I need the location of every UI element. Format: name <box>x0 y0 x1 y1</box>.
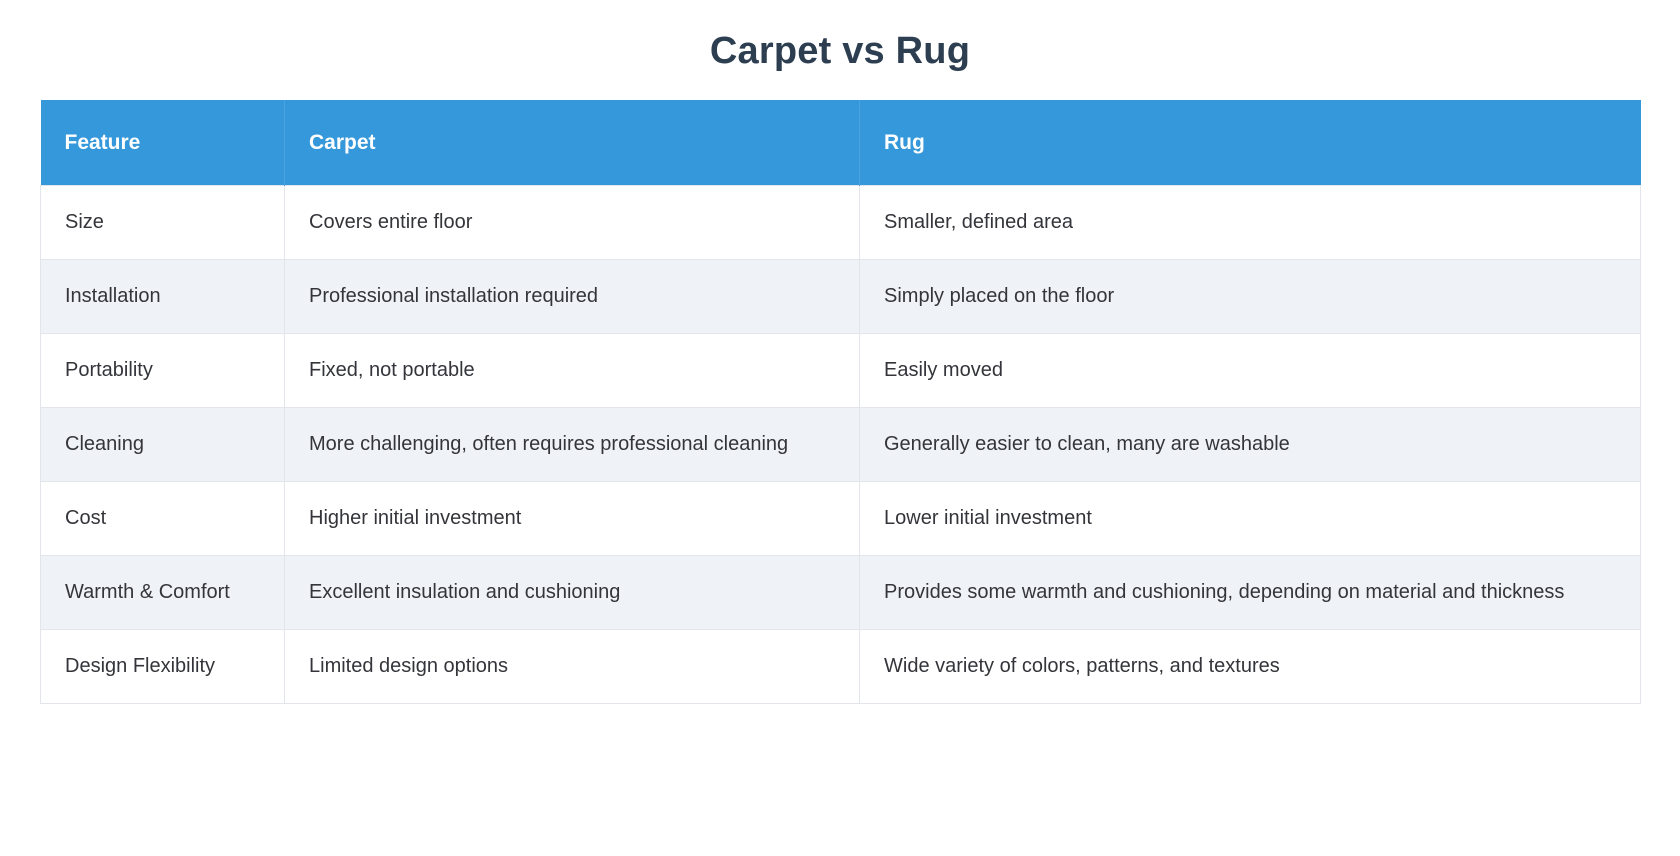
cell-feature: Warmth & Comfort <box>41 555 285 629</box>
table-row: Design Flexibility Limited design option… <box>41 629 1641 703</box>
cell-carpet: Limited design options <box>285 629 860 703</box>
cell-carpet: Excellent insulation and cushioning <box>285 555 860 629</box>
cell-feature: Design Flexibility <box>41 629 285 703</box>
page-root: Carpet vs Rug Feature Carpet Rug Size Co… <box>0 0 1680 856</box>
cell-feature: Cleaning <box>41 407 285 481</box>
cell-rug: Lower initial investment <box>860 481 1641 555</box>
cell-rug: Easily moved <box>860 333 1641 407</box>
table-row: Portability Fixed, not portable Easily m… <box>41 333 1641 407</box>
table-row: Warmth & Comfort Excellent insulation an… <box>41 555 1641 629</box>
cell-carpet: Covers entire floor <box>285 185 860 259</box>
cell-rug: Generally easier to clean, many are wash… <box>860 407 1641 481</box>
cell-carpet: Professional installation required <box>285 259 860 333</box>
table-body: Size Covers entire floor Smaller, define… <box>41 185 1641 703</box>
cell-feature: Installation <box>41 259 285 333</box>
cell-feature: Portability <box>41 333 285 407</box>
cell-rug: Smaller, defined area <box>860 185 1641 259</box>
comparison-table: Feature Carpet Rug Size Covers entire fl… <box>40 100 1641 704</box>
table-row: Size Covers entire floor Smaller, define… <box>41 185 1641 259</box>
table-header: Feature Carpet Rug <box>41 100 1641 186</box>
column-header-carpet[interactable]: Carpet <box>285 100 860 186</box>
table-row: Installation Professional installation r… <box>41 259 1641 333</box>
column-header-rug[interactable]: Rug <box>860 100 1641 186</box>
comparison-table-container: Feature Carpet Rug Size Covers entire fl… <box>0 100 1680 704</box>
cell-feature: Size <box>41 185 285 259</box>
page-title: Carpet vs Rug <box>0 0 1680 100</box>
table-header-row: Feature Carpet Rug <box>41 100 1641 186</box>
cell-carpet: More challenging, often requires profess… <box>285 407 860 481</box>
cell-carpet: Fixed, not portable <box>285 333 860 407</box>
column-header-feature[interactable]: Feature <box>41 100 285 186</box>
cell-rug: Simply placed on the floor <box>860 259 1641 333</box>
table-row: Cleaning More challenging, often require… <box>41 407 1641 481</box>
table-row: Cost Higher initial investment Lower ini… <box>41 481 1641 555</box>
cell-feature: Cost <box>41 481 285 555</box>
cell-rug: Provides some warmth and cushioning, dep… <box>860 555 1641 629</box>
cell-rug: Wide variety of colors, patterns, and te… <box>860 629 1641 703</box>
cell-carpet: Higher initial investment <box>285 481 860 555</box>
